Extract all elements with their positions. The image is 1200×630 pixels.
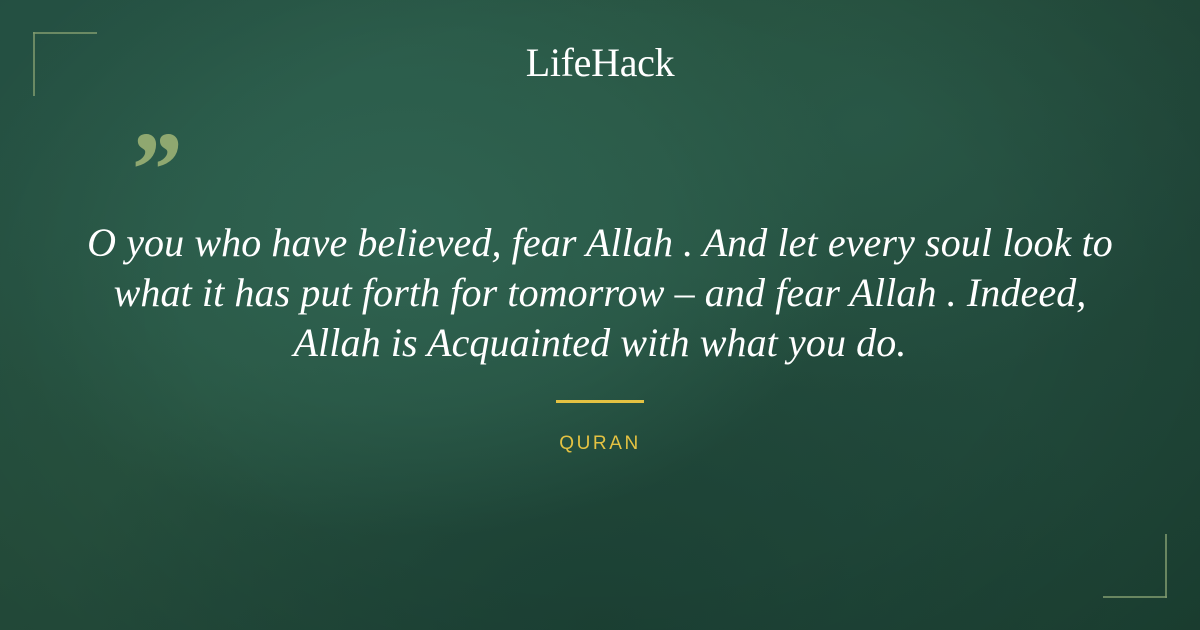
quote-source: QURAN <box>0 433 1200 455</box>
lifehack-logo: LifeHack <box>0 39 1200 87</box>
bracket-horizontal-line <box>1103 596 1167 598</box>
bracket-vertical-line <box>1165 534 1167 598</box>
quote-mark-icon: ” <box>126 117 180 225</box>
corner-bracket-bottom-right <box>1103 534 1167 598</box>
quote-text: O you who have believed, fear Allah . An… <box>86 218 1114 368</box>
quote-card: LifeHack ” O you who have believed, fear… <box>0 0 1200 630</box>
attribution: QURAN <box>0 400 1200 455</box>
attribution-divider <box>556 400 644 403</box>
bracket-horizontal-line <box>33 32 97 34</box>
